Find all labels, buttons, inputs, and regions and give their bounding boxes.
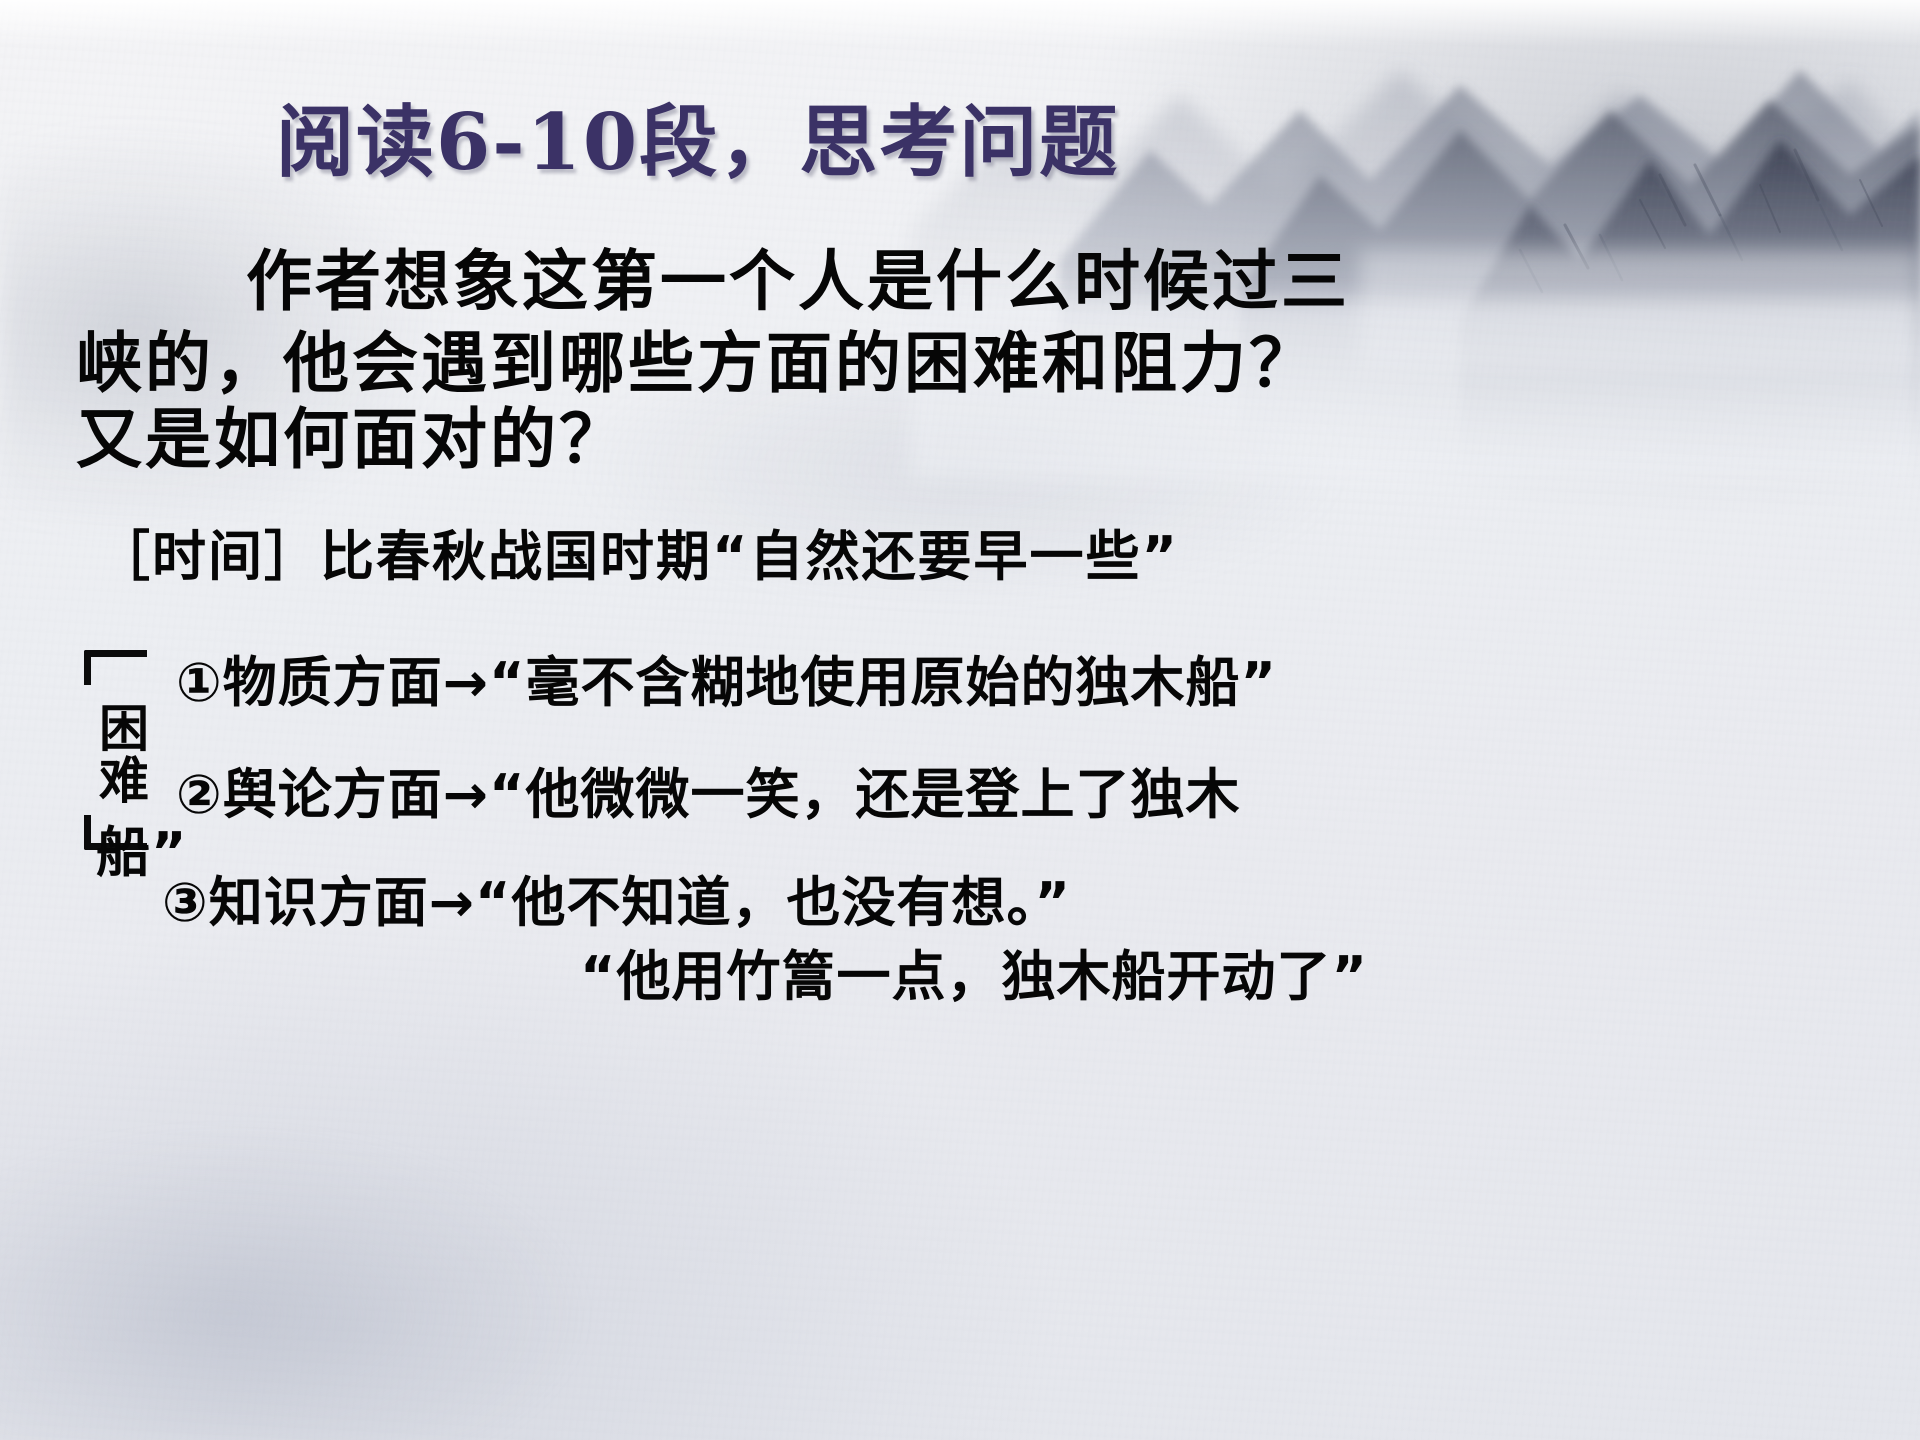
question-line-3: 又是如何面对的？ <box>76 386 628 482</box>
answer-time-line: ［时间］比春秋战国时期“自然还要早一些” <box>96 512 1179 591</box>
top-highlight-gradient <box>0 0 1920 46</box>
slide-title: 阅读6-10段，思考问题 <box>276 104 1119 182</box>
difficulty-label: 困难 <box>88 702 146 806</box>
difficulty-item-3-line-b: “他用竹篙一点，独木船开动了” <box>580 932 1368 1011</box>
ink-wash-mist-bottom-left <box>0 1020 700 1440</box>
difficulty-item-1: ①物质方面→“毫不含糊地使用原始的独木船” <box>176 638 1277 717</box>
brace-top-corner-icon <box>84 650 147 685</box>
presentation-slide: 阅读6-10段，思考问题 作者想象这第一个人是什么时候过三 峡的，他会遇到哪些方… <box>0 0 1920 1440</box>
paper-texture-overlay <box>0 0 1920 1440</box>
answer-time-text: 比春秋战国时期“自然还要早一些” <box>320 525 1179 588</box>
answer-time-label: ［时间］ <box>96 525 320 588</box>
difficulty-item-2-line-a: ②舆论方面→“他微微一笑，还是登上了独木 <box>176 750 1240 829</box>
difficulty-item-3-line-a: ③知识方面→“他不知道，也没有想。” <box>162 858 1071 937</box>
